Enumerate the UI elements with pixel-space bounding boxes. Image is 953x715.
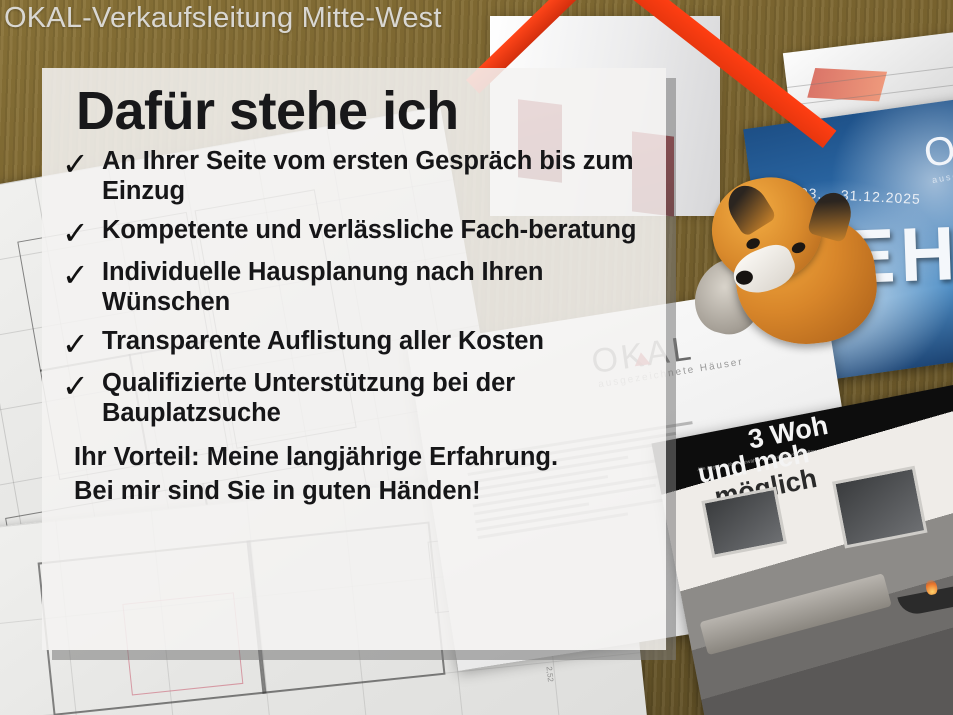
list-item-label: Qualifizierte Unterstützung bei der Baup… <box>102 369 644 429</box>
fox-ear-left <box>721 178 778 237</box>
house-photo-fire-bowl <box>897 584 953 617</box>
list-item: ✓ Kompetente und verlässliche Fach-berat… <box>62 216 644 249</box>
list-item: ✓ An Ihrer Seite vom ersten Gespräch bis… <box>62 147 644 207</box>
checkmark-icon: ✓ <box>62 327 102 360</box>
screenshot-root: 1368-30005 3,30 2,52 OKAL ausgezeichnete… <box>0 0 953 715</box>
panel-footer: Ihr Vorteil: Meine langjährige Erfahrung… <box>74 442 644 508</box>
list-item-label: Kompetente und verlässliche Fach-beratun… <box>102 216 636 246</box>
checkmark-icon: ✓ <box>62 369 102 402</box>
page-title: Dafür stehe ich <box>76 82 644 141</box>
list-item-label: Transparente Auflistung aller Kosten <box>102 327 544 357</box>
fox-eye-right <box>790 240 807 255</box>
sky-brochure-brand: OKAL <box>921 112 953 178</box>
checkmark-icon: ✓ <box>62 258 102 291</box>
house-photo-window <box>832 466 927 549</box>
footer-line-1: Ihr Vorteil: Meine langjährige Erfahrung… <box>74 442 644 474</box>
content-panel: Dafür stehe ich ✓ An Ihrer Seite vom ers… <box>42 68 666 650</box>
list-item: ✓ Qualifizierte Unterstützung bei der Ba… <box>62 369 644 429</box>
overlay-top-title: OKAL-Verkaufsleitung Mitte-West <box>4 2 442 35</box>
blueprint-dimension-label: 2,52 <box>545 666 556 682</box>
footer-line-2: Bei mir sind Sie in guten Händen! <box>74 476 644 508</box>
checkmark-icon: ✓ <box>62 147 102 180</box>
list-item-label: Individuelle Hausplanung nach Ihren Wüns… <box>102 258 644 318</box>
list-item: ✓ Transparente Auflistung aller Kosten <box>62 327 644 360</box>
list-item-label: An Ihrer Seite vom ersten Gespräch bis z… <box>102 147 644 207</box>
benefits-list: ✓ An Ihrer Seite vom ersten Gespräch bis… <box>62 147 644 428</box>
list-item: ✓ Individuelle Hausplanung nach Ihren Wü… <box>62 258 644 318</box>
checkmark-icon: ✓ <box>62 216 102 249</box>
house-photo-sofa <box>699 573 891 655</box>
plush-fox-figurine <box>690 150 880 350</box>
